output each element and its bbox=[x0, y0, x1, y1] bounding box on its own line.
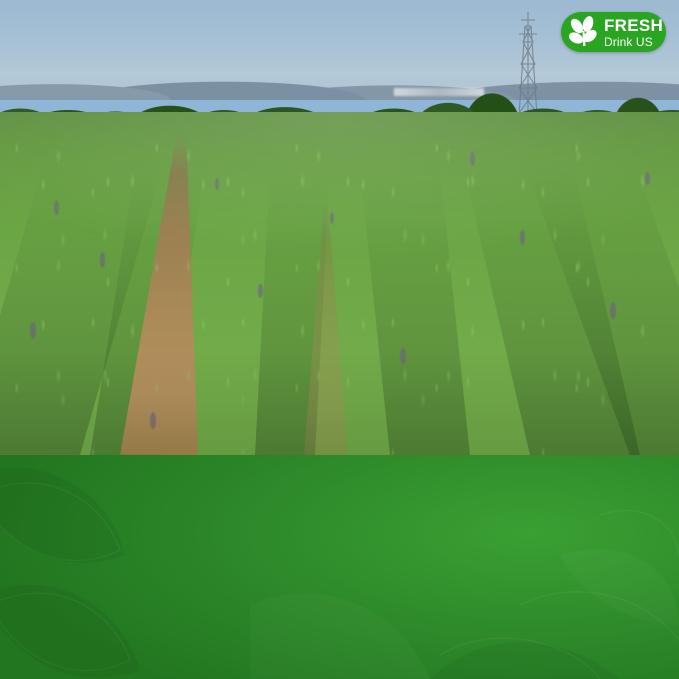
leaf-watermark-pattern bbox=[0, 455, 679, 679]
brand-name-secondary: Drink US bbox=[604, 36, 663, 48]
brand-logo-text: FRESH Drink US bbox=[604, 17, 663, 48]
info-banner: HOW WE GROW SAGE LEAVES We grow Sage lea… bbox=[0, 455, 679, 679]
brand-logo-badge[interactable]: FRESH Drink US bbox=[561, 12, 666, 52]
brand-name-primary: FRESH bbox=[604, 17, 663, 34]
leaf-cluster-icon bbox=[565, 15, 603, 49]
sage-field-photo: FRESH Drink US bbox=[0, 0, 679, 455]
photo-shading bbox=[0, 112, 679, 455]
product-infographic: FRESH Drink US bbox=[0, 0, 679, 679]
